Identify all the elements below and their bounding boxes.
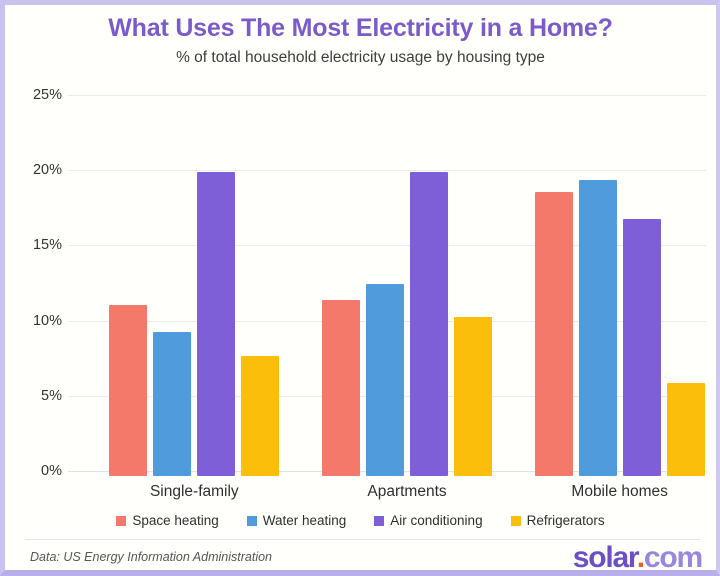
x-axis-category-labels: Single-familyApartmentsMobile homes — [68, 483, 706, 507]
y-axis-tick-label: 25% — [10, 87, 62, 103]
bar[interactable] — [623, 219, 661, 476]
y-axis-tick-label: 20% — [10, 162, 62, 178]
legend-swatch-icon — [511, 516, 521, 526]
bar[interactable] — [241, 356, 279, 476]
legend-item[interactable]: Refrigerators — [511, 513, 605, 528]
plot-area — [68, 95, 706, 476]
page-title: What Uses The Most Electricity in a Home… — [5, 13, 716, 43]
chart-infographic: What Uses The Most Electricity in a Home… — [0, 0, 720, 576]
chart-header: What Uses The Most Electricity in a Home… — [5, 13, 716, 69]
bar[interactable] — [535, 192, 573, 476]
bar[interactable] — [153, 332, 191, 476]
chart-legend: Space heatingWater heatingAir conditioni… — [5, 513, 716, 528]
bar[interactable] — [197, 172, 235, 476]
bar[interactable] — [667, 383, 705, 476]
y-axis-tick-label: 5% — [10, 388, 62, 404]
legend-swatch-icon — [374, 516, 384, 526]
bar[interactable] — [109, 305, 147, 476]
bar-group — [322, 100, 492, 476]
x-axis-category-label: Mobile homes — [571, 483, 668, 501]
legend-item-label: Space heating — [132, 513, 218, 528]
y-axis-tick-label: 10% — [10, 313, 62, 329]
legend-item[interactable]: Air conditioning — [374, 513, 482, 528]
footer-divider — [25, 539, 700, 540]
legend-item[interactable]: Space heating — [116, 513, 218, 528]
legend-item-label: Water heating — [263, 513, 347, 528]
bar[interactable] — [322, 300, 360, 476]
bar[interactable] — [579, 180, 617, 476]
bar[interactable] — [454, 317, 492, 476]
solar-com-logo[interactable]: solar.com — [573, 541, 702, 575]
bar-group — [535, 100, 705, 476]
bar[interactable] — [366, 284, 404, 477]
legend-item[interactable]: Water heating — [247, 513, 347, 528]
legend-swatch-icon — [247, 516, 257, 526]
gridline — [68, 95, 706, 96]
y-axis-tick-label: 0% — [10, 463, 62, 479]
x-axis-category-label: Single-family — [150, 483, 239, 501]
y-axis-tick-label: 15% — [10, 237, 62, 253]
y-axis-tick-labels: 0%5%10%15%20%25% — [5, 95, 62, 476]
legend-swatch-icon — [116, 516, 126, 526]
legend-item-label: Air conditioning — [390, 513, 482, 528]
source-note: Data: US Energy Information Administrati… — [30, 550, 272, 564]
brand-tld-text: com — [644, 541, 702, 574]
chart-subtitle: % of total household electricity usage b… — [5, 47, 716, 69]
x-axis-category-label: Apartments — [367, 483, 446, 501]
bar-group — [109, 100, 279, 476]
brand-name-text: solar — [573, 541, 637, 574]
chart-footer: Data: US Energy Information Administrati… — [5, 539, 716, 575]
bar[interactable] — [410, 172, 448, 476]
legend-item-label: Refrigerators — [527, 513, 605, 528]
brand-dot-text: . — [637, 541, 644, 574]
